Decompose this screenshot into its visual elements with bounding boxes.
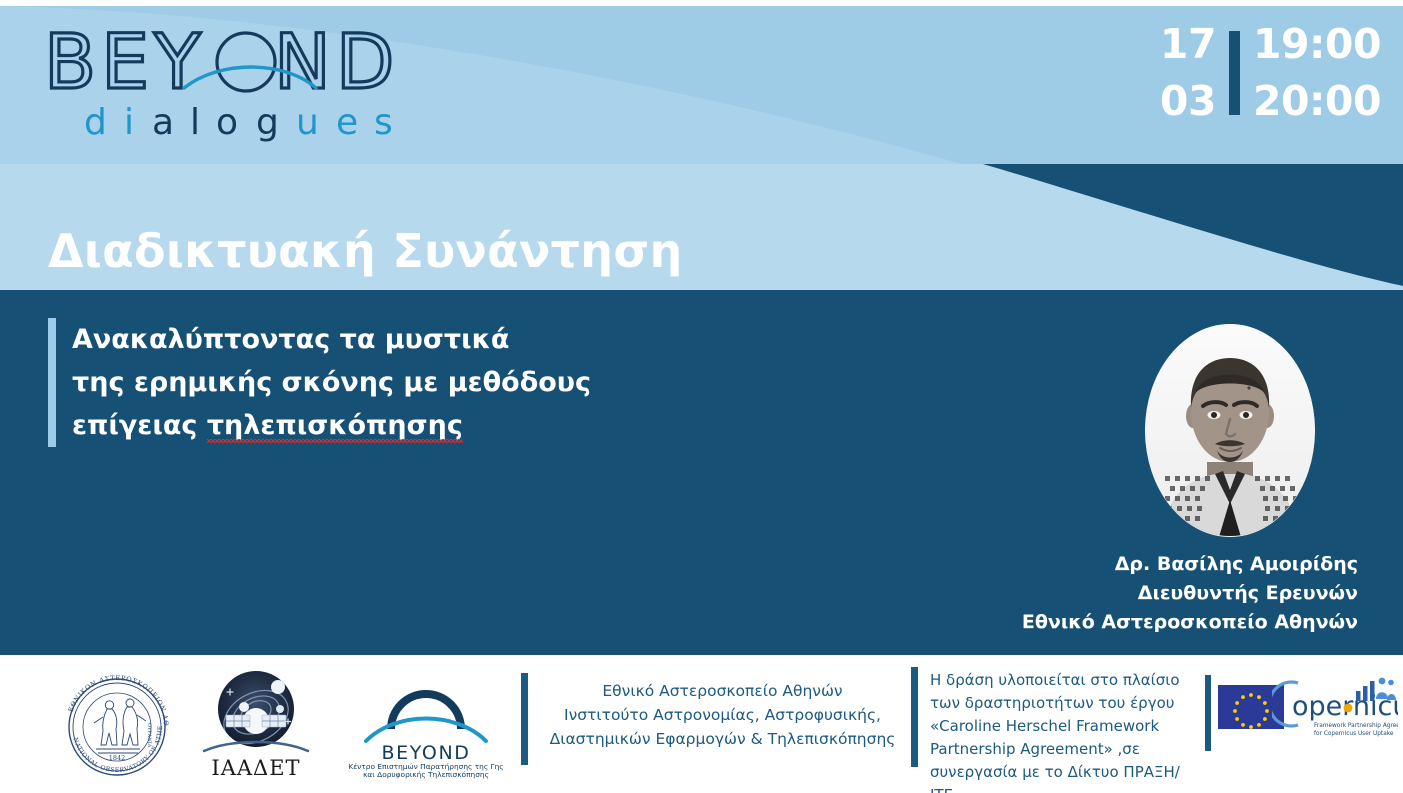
copernicus-people-icon — [1376, 678, 1396, 700]
svg-text:g: g — [256, 102, 279, 143]
spellcheck-underlined-word: τηλεπισκόπησης — [207, 410, 463, 441]
event-month: 03 — [1160, 73, 1216, 130]
vertical-divider-icon — [1229, 31, 1240, 115]
svg-text:a: a — [152, 102, 174, 143]
copernicus-logo: opernicus Framework Partnership Agreemen… — [1272, 675, 1398, 739]
copernicus-bars-icon — [1356, 681, 1375, 701]
beyond-label: BEYOND — [381, 742, 470, 764]
subtitle-line-3: επίγειας τηλεπισκόπησης — [72, 404, 591, 447]
event-time-end: 20:00 — [1253, 73, 1381, 130]
footer-divider-1 — [521, 673, 528, 765]
svg-text:l: l — [190, 102, 200, 143]
beyond-dialogues-logo: BEY ND d i a l o g u e s — [44, 18, 434, 146]
svg-text:s: s — [374, 102, 393, 143]
svg-text:u: u — [296, 102, 319, 143]
copernicus-sub-line-1: Framework Partnership Agreement — [1314, 723, 1398, 729]
footer-organisation-text: Εθνικό Αστεροσκοπείο Αθηνών Ινστιτούτο Α… — [545, 679, 900, 751]
event-subtitle: Ανακαλύπτοντας τα μυστικά της ερημικής σ… — [72, 318, 591, 447]
event-poster: BEY ND d i a l o g u e s 17 03 19:00 — [0, 0, 1403, 793]
logo-word-outline-2: ND — [274, 18, 399, 106]
footer-funding-note: Η δράση υλοποιείται στο πλαίσιο των δρασ… — [930, 669, 1200, 793]
iaadet-label: ΙΑΑΔΕΤ — [211, 756, 300, 780]
logo-word-outline: BEY — [44, 18, 206, 106]
speaker-role: Διευθυντής Ερευνών — [1022, 579, 1358, 608]
subtitle-line-2: της ερημικής σκόνης με μεθόδους — [72, 361, 591, 404]
beyond-sub-line-2: και Δορυφορικής Τηλεπισκόπησης — [363, 770, 489, 779]
beyond-dialogues-logo-mark: BEY ND d i a l o g u e s — [44, 18, 434, 146]
beyond-centre-logo: BEYOND Κέντρο Επιστημών Παρατήρησης της … — [338, 671, 514, 779]
svg-text:e: e — [336, 102, 358, 143]
beyond-arc-icon — [366, 719, 486, 742]
speaker-caption: Δρ. Βασίλης Αμοιρίδης Διευθυντής Ερευνών… — [1022, 550, 1358, 637]
event-subtitle-block: Ανακαλύπτοντας τα μυστικά της ερημικής σ… — [48, 318, 591, 447]
svg-text:d: d — [84, 102, 107, 143]
event-datetime: 17 03 19:00 20:00 — [1160, 16, 1381, 130]
noa-seal-year: 1842 — [109, 754, 126, 762]
speaker-name: Δρ. Βασίλης Αμοιρίδης — [1022, 550, 1358, 579]
copernicus-sub-line-2: for Copernicus User Uptake — [1314, 731, 1394, 737]
noa-seal-mark: ΕΘΝΙΚΟΝ ΑΣΤΕΡΟΣΚΟΠΕΙΟΝ ΑΘΗΝΩΝ NATIONAL O… — [52, 665, 182, 783]
footer-divider-3 — [1205, 675, 1211, 751]
event-time-start: 19:00 — [1253, 16, 1381, 73]
footer: ΕΘΝΙΚΟΝ ΑΣΤΕΡΟΣΚΟΠΕΙΟΝ ΑΘΗΝΩΝ NATIONAL O… — [0, 655, 1403, 793]
speaker-photo — [1145, 324, 1315, 537]
copernicus-logo-mark: opernicus Framework Partnership Agreemen… — [1272, 675, 1398, 739]
svg-text:ΟΥΡΑΝΙΑ: ΟΥΡΑΝΙΑ — [146, 723, 152, 748]
copernicus-dot-icon — [1344, 704, 1353, 713]
footer-divider-2 — [911, 667, 918, 767]
subtitle-line-3-prefix: επίγειας — [72, 410, 207, 441]
speaker-affiliation: Εθνικό Αστεροσκοπείο Αθηνών — [1022, 608, 1358, 637]
iaadet-logo-mark: ΙΑΑΔΕΤ — [192, 667, 320, 781]
event-time-range: 19:00 20:00 — [1253, 16, 1381, 130]
speaker-portrait-illustration — [1145, 324, 1315, 537]
logo-subword: d i a l o g u e s — [84, 102, 393, 143]
subtitle-line-1: Ανακαλύπτοντας τα μυστικά — [72, 318, 591, 361]
footer-org-line-3: Διαστημικών Εφαρμογών & Τηλεπισκόπησης — [545, 727, 900, 751]
footer-org-line-2: Ινστιτούτο Αστρονομίας, Αστροφυσικής, — [545, 703, 900, 727]
svg-text:o: o — [216, 102, 238, 143]
accent-bar — [48, 318, 56, 447]
logo-o-circle-icon — [217, 33, 275, 91]
svg-text:i: i — [124, 102, 134, 143]
footer-org-line-1: Εθνικό Αστεροσκοπείο Αθηνών — [545, 679, 900, 703]
iaadet-logo: ΙΑΑΔΕΤ — [192, 667, 320, 781]
event-date: 17 03 — [1160, 16, 1216, 130]
beyond-centre-logo-mark: BEYOND Κέντρο Επιστημών Παρατήρησης της … — [338, 671, 514, 779]
page-title: Διαδικτυακή Συνάντηση — [48, 224, 683, 278]
event-day: 17 — [1160, 16, 1216, 73]
national-observatory-of-athens-seal: ΕΘΝΙΚΟΝ ΑΣΤΕΡΟΣΚΟΠΕΙΟΝ ΑΘΗΝΩΝ NATIONAL O… — [52, 665, 182, 783]
